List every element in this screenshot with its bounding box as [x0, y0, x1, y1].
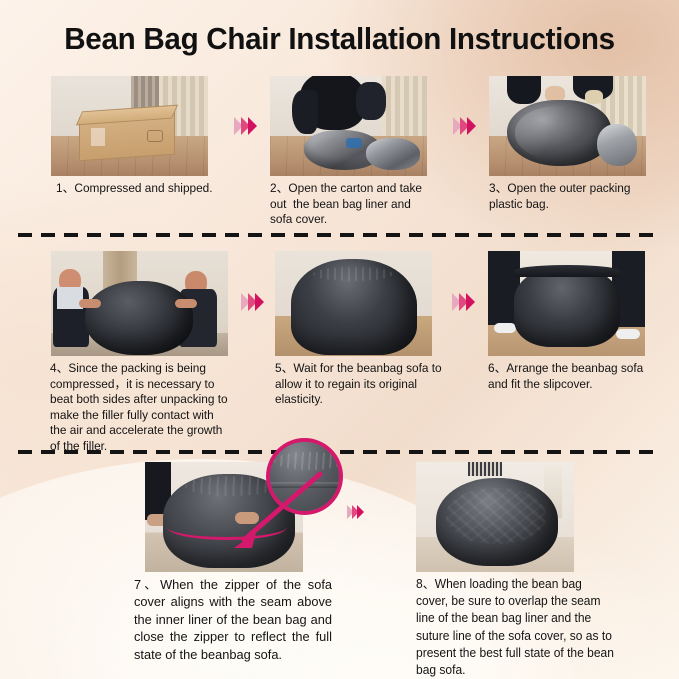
step-2-caption: 2、Open the carton and take out the bean … — [270, 181, 461, 228]
infographic-page: Bean Bag Chair Installation Instructions — [0, 0, 679, 679]
arrow-step-7-to-8 — [347, 505, 362, 519]
step-2-photo — [270, 76, 427, 176]
step-5-photo — [275, 251, 432, 356]
step-1-caption: 1、Compressed and shipped. — [56, 181, 252, 197]
chevron-right-icon — [466, 293, 475, 311]
arrow-step-1-to-2 — [234, 117, 255, 135]
step-1-photo — [51, 76, 208, 176]
arrow-step-5-to-6 — [452, 293, 473, 311]
divider-row-1 — [18, 233, 661, 237]
step-8-photo — [416, 462, 574, 572]
step-3-caption: 3、Open the outer packing plastic bag. — [489, 181, 661, 212]
chevron-right-icon — [357, 505, 364, 519]
step-8-caption: 8、When loading the bean bag cover, be su… — [416, 576, 639, 679]
arrow-step-2-to-3 — [453, 117, 474, 135]
step-4-caption: 4、Since the packing is being compressed，… — [50, 361, 241, 455]
step-6-photo — [488, 251, 645, 356]
chevron-right-icon — [248, 117, 257, 135]
step-5-caption: 5、Wait for the beanbag sofa to allow it … — [275, 361, 464, 408]
step-3-photo — [489, 76, 646, 176]
callout-pointer-arrow — [212, 462, 332, 562]
chevron-right-icon — [467, 117, 476, 135]
page-title: Bean Bag Chair Installation Instructions — [10, 22, 669, 57]
chevron-right-icon — [255, 293, 264, 311]
step-7-caption: 7、When the zipper of the sofa cover alig… — [134, 576, 332, 663]
step-6-caption: 6、Arrange the beanbag sofa and fit the s… — [488, 361, 669, 392]
arrow-step-4-to-5 — [241, 293, 262, 311]
step-4-photo — [51, 251, 228, 356]
